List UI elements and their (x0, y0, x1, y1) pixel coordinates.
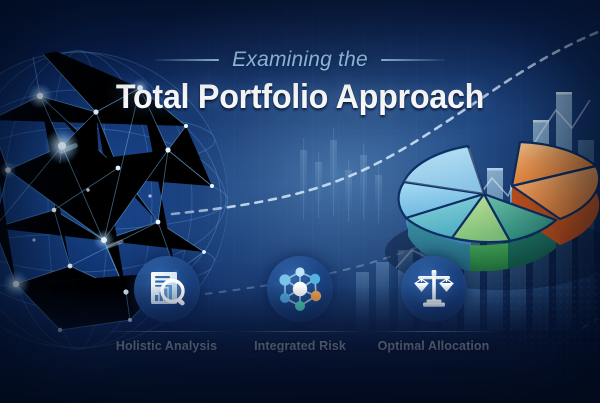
feature-divider (104, 331, 229, 332)
balance-scales-icon (411, 266, 457, 312)
kicker-rule-right (381, 59, 445, 61)
feature-divider (371, 331, 496, 332)
feature-row: Holistic Analysis (104, 256, 496, 353)
banner-image: Examining the Total Portfolio Approach (0, 0, 600, 403)
feature-badge (267, 256, 333, 322)
kicker-rule-left (155, 59, 219, 61)
network-hub-icon (276, 265, 324, 313)
feature-holistic-analysis[interactable]: Holistic Analysis (104, 256, 229, 353)
feature-badge (134, 256, 200, 322)
feature-label: Optimal Allocation (378, 339, 490, 353)
kicker-row: Examining the (0, 48, 600, 72)
feature-badge (401, 256, 467, 322)
feature-label: Integrated Risk (254, 339, 346, 353)
title-block: Examining the Total Portfolio Approach (0, 48, 600, 117)
feature-divider (238, 331, 363, 332)
feature-label: Holistic Analysis (116, 339, 217, 353)
feature-optimal-allocation[interactable]: Optimal Allocation (371, 256, 496, 353)
feature-integrated-risk[interactable]: Integrated Risk (238, 256, 363, 353)
kicker-text: Examining the (232, 48, 368, 72)
page-title: Total Portfolio Approach (15, 78, 585, 117)
document-magnifier-icon (144, 266, 190, 312)
